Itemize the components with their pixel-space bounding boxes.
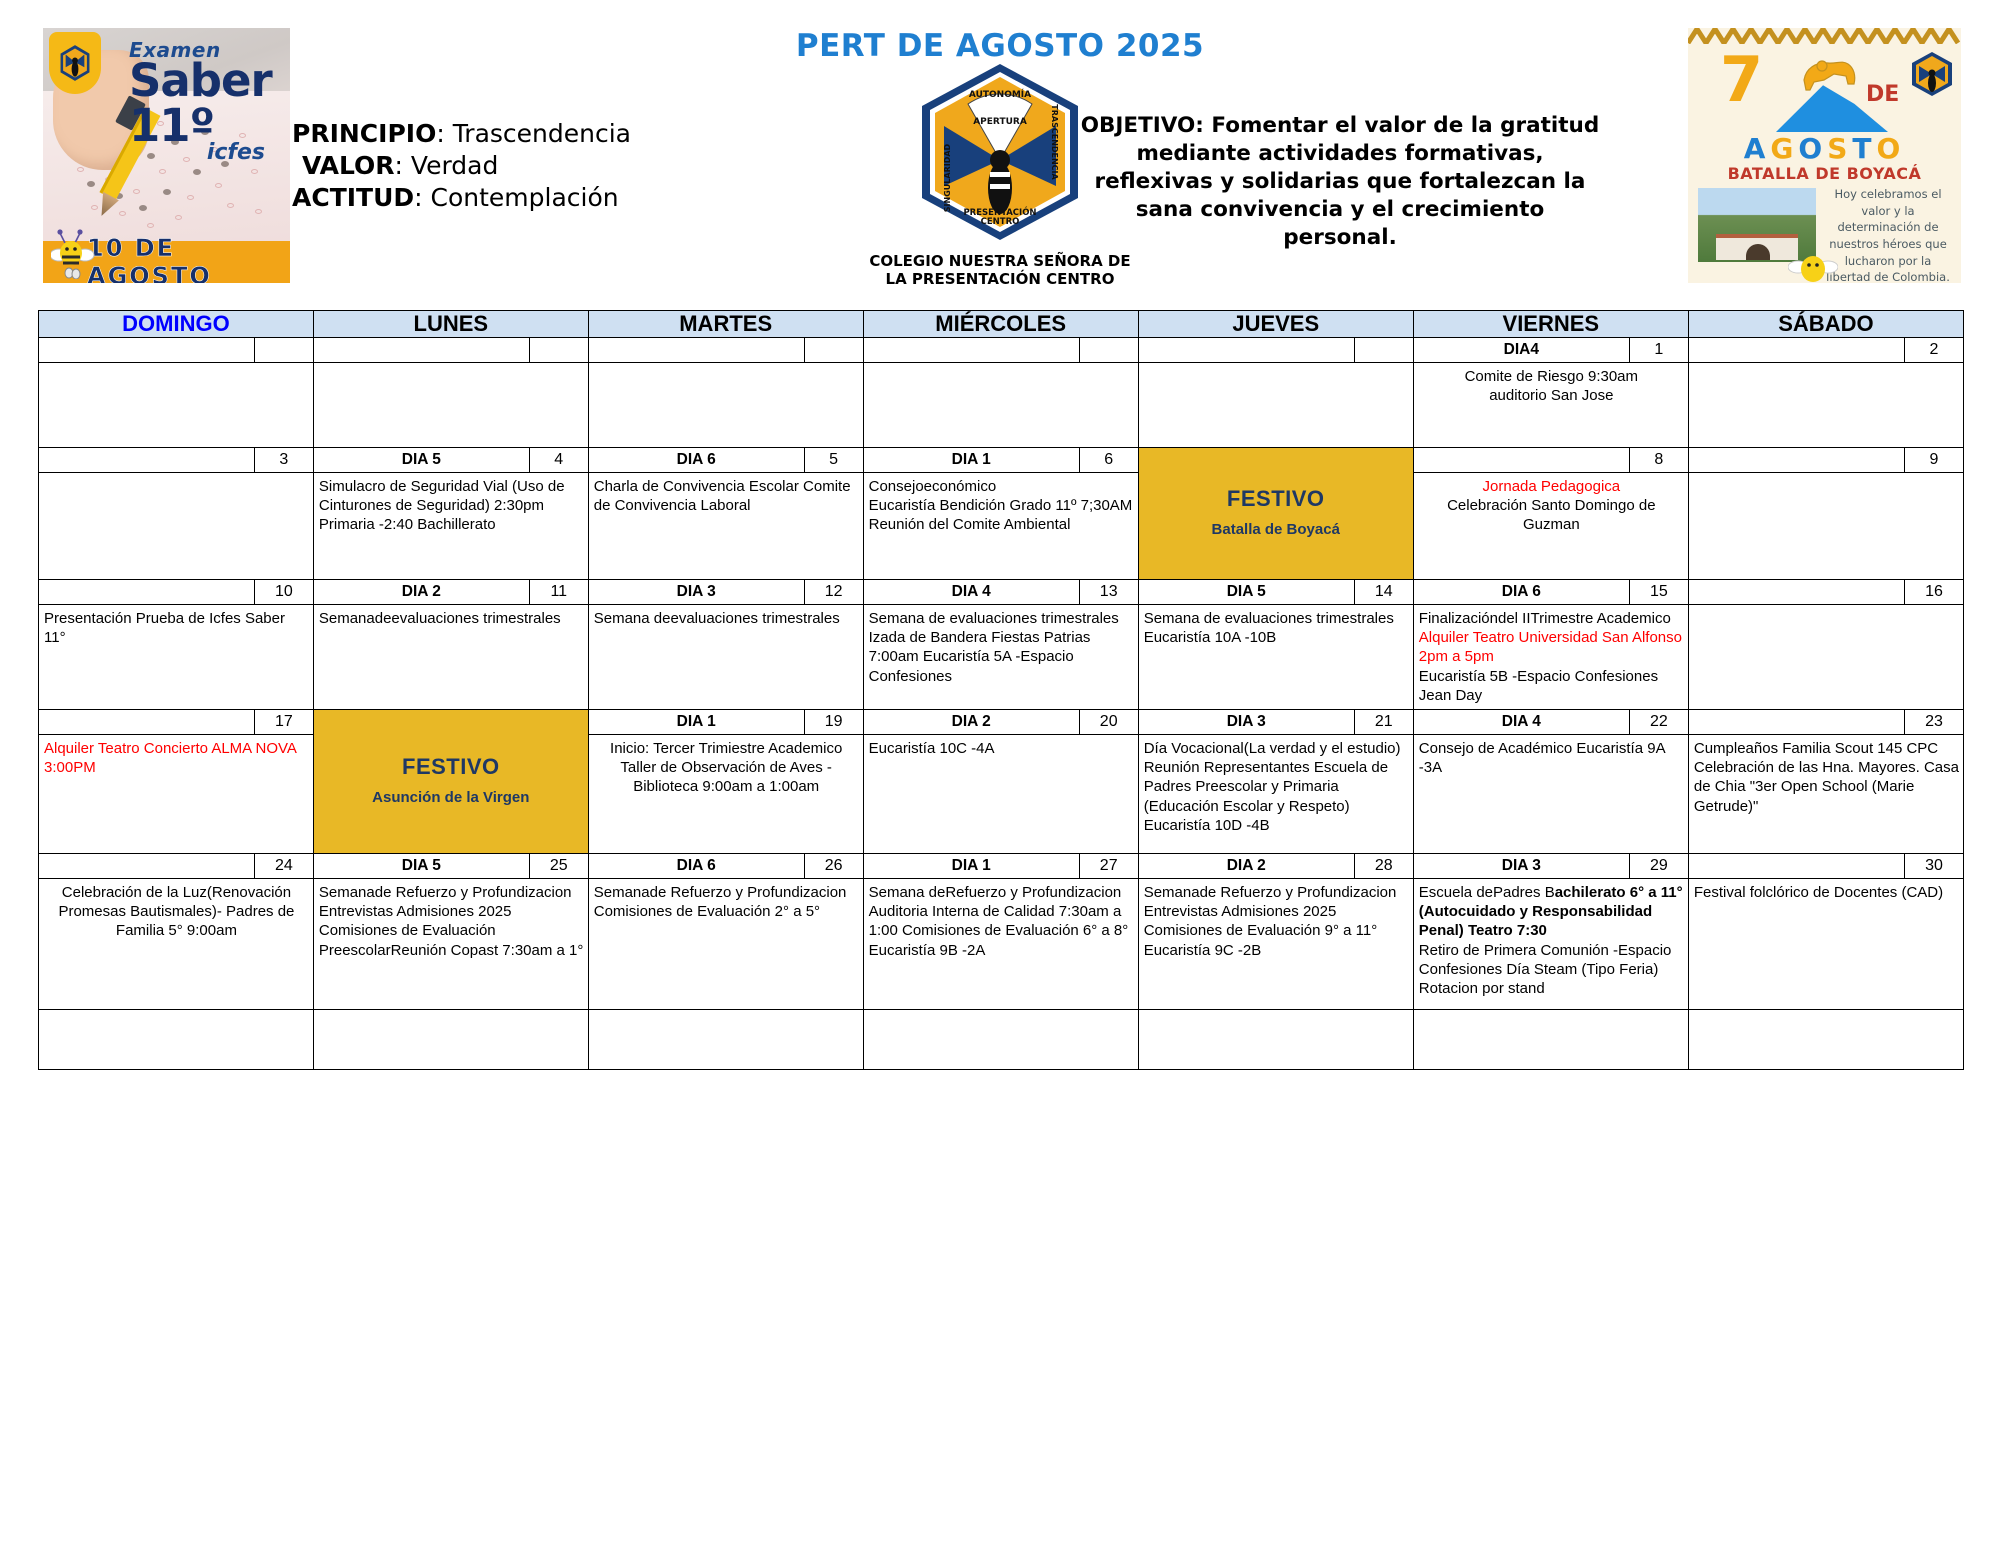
day-cell-header: 23 [1689,710,1963,735]
calendar-day-cell[interactable]: 17Alquiler Teatro Concierto ALMA NOVA 3:… [39,710,314,854]
principles-block: PRINCIPIO: Trascendencia VALOR: Verdad A… [292,118,622,214]
day-events: Semana deRefuerzo y Profundizacion Audit… [864,879,1138,1009]
calendar-day-cell[interactable]: DIA 413Semana de evaluaciones trimestral… [863,580,1138,710]
day-cell-header: DIA 127 [864,854,1138,879]
calendar-table: DOMINGO LUNES MARTES MIÉRCOLES JUEVES VI… [38,310,1964,1070]
day-cell-inner: 16 [1689,580,1963,709]
day-cell-inner: 8Jornada PedagogicaCelebración Santo Dom… [1414,448,1688,579]
calendar-tail-cell [588,1010,863,1070]
day-event-line: Inicio: Tercer Trimiestre Academico Tall… [594,739,859,797]
day-event-line: Consejo de Académico Eucaristía 9A -3A [1419,739,1684,777]
day-number: 10 [255,580,313,604]
day-number: 29 [1630,854,1688,878]
day-events [1689,605,1963,709]
logo-text-singularidad: SINGULARIDAD [943,143,952,212]
day-event-segment: Escuela dePadres B [1419,884,1555,901]
calendar-day-cell[interactable]: DIA 626Semanade Refuerzo y Profundizacio… [588,854,863,1010]
day-number: 20 [1080,710,1138,734]
day-cell-inner [589,338,863,447]
calendar-day-cell[interactable]: 2 [1688,338,1963,448]
day-cell-inner: 2 [1689,338,1963,447]
day-cell-inner: 30Festival folclórico de Docentes (CAD) [1689,854,1963,1009]
objective-text: OBJETIVO: Fomentar el valor de la gratit… [1080,112,1600,252]
day-events: Semanade Refuerzo y Profundizacion Comis… [589,879,863,1009]
bee-mascot-icon-right [1788,245,1838,283]
logo-text-trascendencia: TRASCENDENCIA [1050,104,1059,180]
calendar-day-cell[interactable]: DIA 16ConsejoeconómicoEucaristía Bendici… [863,448,1138,580]
actitud-label: ACTITUD [292,183,414,212]
actitud-value: : Contemplación [414,183,618,212]
festive-title: FESTIVO [1139,486,1413,512]
day-number: 28 [1355,854,1413,878]
day-events: Presentación Prueba de Icfes Saber 11° [39,605,313,709]
day-events: ConsejoeconómicoEucaristía Bendición Gra… [864,473,1138,579]
day-number: 3 [255,448,313,472]
principio-row: PRINCIPIO: Trascendencia [292,118,622,150]
day-cell-header: DIA 514 [1139,580,1413,605]
day-cell-inner: 24Celebración de la Luz(Renovación Prome… [39,854,313,1009]
day-cycle-label: DIA 2 [864,710,1080,734]
day-event-line: Presentación Prueba de Icfes Saber 11° [44,609,309,647]
calendar-tail-row [39,1010,1964,1070]
calendar-day-cell[interactable]: DIA 329Escuela dePadres Bachilerato 6° a… [1413,854,1688,1010]
day-event-line: Semanade Refuerzo y Profundizacion Comis… [594,883,859,921]
day-cell-header: DIA 211 [314,580,588,605]
day-cycle-label [1689,448,1905,472]
hexagon-bee-logo: AUTONOMÍA APERTURA SINGULARIDAD TRASCEND… [910,60,1090,245]
day-number [1080,338,1138,362]
calendar-day-cell[interactable]: DIA 228Semanade Refuerzo y Profundizacio… [1138,854,1413,1010]
day-cell-header: DIA41 [1414,338,1688,363]
calendar-week-row: 17Alquiler Teatro Concierto ALMA NOVA 3:… [39,710,1964,854]
day-cell-header: 3 [39,448,313,473]
day-cell-inner: DIA 312Semana deevaluaciones trimestrale… [589,580,863,709]
day-number: 23 [1905,710,1963,734]
day-cell-inner: DIA 16ConsejoeconómicoEucaristía Bendici… [864,448,1138,579]
day-cell-inner: DIA 329Escuela dePadres Bachilerato 6° a… [1414,854,1688,1009]
day-events: Simulacro de Seguridad Vial (Uso de Cint… [314,473,588,579]
day-event-line: Festival folclórico de Docentes (CAD) [1694,883,1959,902]
batalla-boyaca-poster: 7 DE AGOSTO BATALLA DE BOYACÁ Hoy celebr… [1688,28,1961,283]
valor-value: : Verdad [395,151,499,180]
day-cell-header [864,338,1138,363]
day-cycle-label [589,338,805,362]
calendar-day-festive[interactable]: FESTIVOBatalla de Boyacá [1138,448,1413,580]
day-events: Semanade Refuerzo y Profundizacion Entre… [1139,879,1413,1009]
day-cell-header: 17 [39,710,313,735]
festive-title: FESTIVO [314,754,588,780]
day-number: 11 [530,580,588,604]
day-cell-header [39,338,313,363]
day-number: 5 [805,448,863,472]
day-header-miercoles: MIÉRCOLES [863,311,1138,338]
day-events [314,363,588,447]
day-cycle-label [314,338,530,362]
day-cell-inner: 23 Cumpleaños Familia Scout 145 CPC Cele… [1689,710,1963,853]
day-cell-header: DIA 65 [589,448,863,473]
day-event-line: Día Vocacional(La verdad y el estudio) R… [1144,739,1409,835]
day-events: Comite de Riesgo 9:30amauditorio San Jos… [1414,363,1688,447]
calendar-body: DIA41Comite de Riesgo 9:30amauditorio Sa… [39,338,1964,1070]
logo-caption: COLEGIO NUESTRA SEÑORA DE LA PRESENTACIÓ… [820,252,1180,288]
day-event-line: Celebración Santo Domingo de Guzman [1419,496,1684,534]
logo-text-apertura: APERTURA [973,117,1027,127]
calendar-day-festive[interactable]: FESTIVOAsunción de la Virgen [313,710,588,854]
calendar-day-cell[interactable]: DIA 312Semana deevaluaciones trimestrale… [588,580,863,710]
day-event-line: Alquiler Teatro Universidad San Alfonso … [1419,628,1684,666]
day-events: Consejo de Académico Eucaristía 9A -3A [1414,735,1688,853]
day-events [589,363,863,447]
day-events: Alquiler Teatro Concierto ALMA NOVA 3:00… [39,735,313,853]
day-cell-inner: DIA 514Semana de evaluaciones trimestral… [1139,580,1413,709]
day-event-line: Cumpleaños Familia Scout 145 CPC Celebra… [1694,739,1959,816]
day-cell-inner [39,338,313,447]
day-event-line: Semanadeevaluaciones trimestrales [319,609,584,628]
horse-rider-icon [1800,54,1862,94]
calendar-week-row: 10Presentación Prueba de Icfes Saber 11°… [39,580,1964,710]
day-cell-inner: DIA 65Charla de Convivencia Escolar Comi… [589,448,863,579]
logo-text-autonomia: AUTONOMÍA [969,88,1031,100]
day-cycle-label: DIA 5 [1139,580,1355,604]
page-header: PERT DE AGOSTO 2025 [0,0,2000,300]
day-cell-inner: DIA 422Consejo de Académico Eucaristía 9… [1414,710,1688,853]
day-cycle-label [1139,338,1355,362]
poster-de-label: DE [1866,82,1899,107]
poster-batalla-label: BATALLA DE BOYACÁ [1688,164,1961,183]
day-event-line: Semanade Refuerzo y Profundizacion Entre… [319,883,584,960]
calendar-day-cell[interactable]: 8Jornada PedagogicaCelebración Santo Dom… [1413,448,1688,580]
calendar-day-cell[interactable]: DIA 211Semanadeevaluaciones trimestrales [313,580,588,710]
calendar-day-cell[interactable]: DIA 615Finalizacióndel IITrimestre Acade… [1413,580,1688,710]
day-event-line: Eucaristía Bendición Grado 11º 7;30AM Re… [869,496,1134,534]
day-event-line: Semana deevaluaciones trimestrales [594,609,859,628]
zigzag-pattern-icon [1688,28,1961,44]
day-event-line: Eucaristía 5B -Espacio Confesiones Jean … [1419,667,1684,705]
day-cell-inner [314,338,588,447]
calendar-day-cell[interactable]: 30Festival folclórico de Docentes (CAD) [1688,854,1963,1010]
day-number: 17 [255,710,313,734]
day-cell-inner: 3 [39,448,313,579]
calendar-day-cell[interactable]: DIA 127Semana deRefuerzo y Profundizacio… [863,854,1138,1010]
day-number: 27 [1080,854,1138,878]
calendar-week-row: 24Celebración de la Luz(Renovación Prome… [39,854,1964,1010]
day-events: Semanade Refuerzo y Profundizacion Entre… [314,879,588,1009]
calendar: DOMINGO LUNES MARTES MIÉRCOLES JUEVES VI… [38,310,1964,1070]
day-header-lunes: LUNES [313,311,588,338]
day-event-line: Semana de evaluaciones trimestrales Izad… [869,609,1134,686]
day-event-line: Jornada Pedagogica [1419,477,1684,496]
day-number: 9 [1905,448,1963,472]
day-event-line: Semana de evaluaciones trimestrales Euca… [1144,609,1409,647]
school-badge-small [49,32,101,94]
day-events [1689,363,1963,447]
day-cycle-label [39,448,255,472]
day-events: Semana de evaluaciones trimestrales Euca… [1139,605,1413,709]
day-cell-header: DIA 228 [1139,854,1413,879]
day-event-line: Simulacro de Seguridad Vial (Uso de Cint… [319,477,584,535]
day-events [39,363,313,447]
day-number: 14 [1355,580,1413,604]
day-cycle-label [39,854,255,878]
calendar-day-cell[interactable] [313,338,588,448]
day-cell-header: DIA 312 [589,580,863,605]
calendar-day-cell[interactable] [1138,338,1413,448]
day-cell-inner: DIA41Comite de Riesgo 9:30amauditorio Sa… [1414,338,1688,447]
decorative-border-top [1688,28,1961,44]
day-cell-inner: 9 [1689,448,1963,579]
calendar-day-cell[interactable]: DIA 321Día Vocacional(La verdad y el est… [1138,710,1413,854]
principio-label: PRINCIPIO [292,119,436,148]
day-cycle-label: DIA 6 [1414,580,1630,604]
day-cell-inner: DIA 127Semana deRefuerzo y Profundizacio… [864,854,1138,1009]
calendar-header-row: DOMINGO LUNES MARTES MIÉRCOLES JUEVES VI… [39,311,1964,338]
poster-saber-label: Saber 11º [129,58,289,148]
day-events: Semana de evaluaciones trimestrales Izad… [864,605,1138,709]
day-cycle-label: DIA 4 [864,580,1080,604]
day-number: 21 [1355,710,1413,734]
day-events: Jornada PedagogicaCelebración Santo Domi… [1414,473,1688,579]
day-number: 16 [1905,580,1963,604]
day-cycle-label [1689,580,1905,604]
day-cycle-label [1689,710,1905,734]
calendar-day-cell[interactable]: DIA 65Charla de Convivencia Escolar Comi… [588,448,863,580]
day-cell-inner: DIA 321Día Vocacional(La verdad y el est… [1139,710,1413,853]
calendar-tail-cell [39,1010,314,1070]
calendar-day-cell[interactable] [588,338,863,448]
calendar-tail-cell [1138,1010,1413,1070]
festive-subtitle: Asunción de la Virgen [314,786,588,810]
day-number: 1 [1630,338,1688,362]
day-events: Día Vocacional(La verdad y el estudio) R… [1139,735,1413,853]
day-cell-header: DIA 329 [1414,854,1688,879]
day-events: Celebración de la Luz(Renovación Promesa… [39,879,313,1009]
day-cell-header: 30 [1689,854,1963,879]
day-number: 6 [1080,448,1138,472]
day-cell-header: 24 [39,854,313,879]
day-cell-inner: DIA 626Semanade Refuerzo y Profundizacio… [589,854,863,1009]
calendar-day-cell[interactable]: DIA 54Simulacro de Seguridad Vial (Uso d… [313,448,588,580]
day-cycle-label [1414,448,1630,472]
poster-seven-label: 7 [1720,52,1763,108]
logo-caption-line1: COLEGIO NUESTRA SEÑORA DE [820,252,1180,270]
day-number: 13 [1080,580,1138,604]
day-cycle-label: DIA 1 [864,448,1080,472]
day-cycle-label: DIA 3 [1414,854,1630,878]
day-event-line: Semanade Refuerzo y Profundizacion Entre… [1144,883,1409,960]
day-cell-header: DIA 422 [1414,710,1688,735]
day-cell-inner [864,338,1138,447]
day-header-jueves: JUEVES [1138,311,1413,338]
day-events: Charla de Convivencia Escolar Comite de … [589,473,863,579]
day-cell-inner: DIA 615Finalizacióndel IITrimestre Acade… [1414,580,1688,709]
calendar-tail-cell [863,1010,1138,1070]
day-event-line: Finalizacióndel IITrimestre Academico [1419,609,1684,628]
day-cell-header: 2 [1689,338,1963,363]
day-events: Cumpleaños Familia Scout 145 CPC Celebra… [1689,735,1963,853]
calendar-day-cell[interactable] [39,338,314,448]
day-events: Semanadeevaluaciones trimestrales [314,605,588,709]
logo-text-centro: CENTRO [981,217,1020,227]
day-event-line: Semana deRefuerzo y Profundizacion Audit… [869,883,1134,960]
day-event-line: Comite de Riesgo 9:30am [1419,367,1684,386]
bridge-shape [1716,234,1798,260]
day-cell-header: 9 [1689,448,1963,473]
day-cell-inner: DIA 119Inicio: Tercer Trimiestre Academi… [589,710,863,853]
day-cycle-label: DIA 3 [1139,710,1355,734]
day-events: Eucaristía 10C -4A [864,735,1138,853]
calendar-week-row: 3DIA 54Simulacro de Seguridad Vial (Uso … [39,448,1964,580]
day-cell-header: DIA 615 [1414,580,1688,605]
day-cycle-label [39,580,255,604]
saber11-poster: Examen Saber 11º icfes 10 DE AGOSTO [43,28,290,283]
day-cycle-label: DIA 2 [314,580,530,604]
day-number [255,338,313,362]
day-events: Festival folclórico de Docentes (CAD) [1689,879,1963,1009]
day-events [864,363,1138,447]
day-cycle-label: DIA 1 [589,710,805,734]
calendar-day-cell[interactable]: DIA41Comite de Riesgo 9:30amauditorio Sa… [1413,338,1688,448]
day-events: Finalizacióndel IITrimestre AcademicoAlq… [1414,605,1688,709]
day-event-line: auditorio San Jose [1419,386,1684,405]
day-cell-header: DIA 525 [314,854,588,879]
day-cell-header: DIA 220 [864,710,1138,735]
day-number [805,338,863,362]
day-cell-header [589,338,863,363]
calendar-day-cell[interactable]: 24Celebración de la Luz(Renovación Prome… [39,854,314,1010]
day-cell-header: DIA 321 [1139,710,1413,735]
day-cycle-label: DIA 1 [864,854,1080,878]
calendar-day-cell[interactable]: 9 [1688,448,1963,580]
day-cell-inner: 17Alquiler Teatro Concierto ALMA NOVA 3:… [39,710,313,853]
day-cycle-label [864,338,1080,362]
day-cell-inner: DIA 220Eucaristía 10C -4A [864,710,1138,853]
day-cell-header: 8 [1414,448,1688,473]
day-number: 26 [805,854,863,878]
day-event-line: Celebración de la Luz(Renovación Promesa… [44,883,309,941]
day-cycle-label: DIA 6 [589,854,805,878]
day-event-line: Consejoeconómico [869,477,1134,496]
day-number: 25 [530,854,588,878]
day-number: 19 [805,710,863,734]
day-cycle-label [1689,338,1905,362]
day-cell-inner [1139,338,1413,447]
calendar-day-cell[interactable] [863,338,1138,448]
festive-subtitle: Batalla de Boyacá [1139,518,1413,542]
calendar-day-cell[interactable]: DIA 119Inicio: Tercer Trimiestre Academi… [588,710,863,854]
day-cell-header: DIA 119 [589,710,863,735]
day-number: 8 [1630,448,1688,472]
calendar-day-cell[interactable]: 3 [39,448,314,580]
day-header-sabado: SÁBADO [1688,311,1963,338]
day-number: 30 [1905,854,1963,878]
day-events [1689,473,1963,579]
calendar-day-cell[interactable]: DIA 220Eucaristía 10C -4A [863,710,1138,854]
day-number: 4 [530,448,588,472]
day-event-line: Escuela dePadres Bachilerato 6° a 11° (A… [1419,883,1684,941]
day-number: 22 [1630,710,1688,734]
day-number [1355,338,1413,362]
day-number: 24 [255,854,313,878]
day-cycle-label: DIA 6 [589,448,805,472]
poster-agosto-label: AGOSTO [1688,132,1961,165]
calendar-week-row: DIA41Comite de Riesgo 9:30amauditorio Sa… [39,338,1964,448]
day-cell-header: 16 [1689,580,1963,605]
day-events: Semana deevaluaciones trimestrales [589,605,863,709]
actitud-row: ACTITUD: Contemplación [292,182,622,214]
day-cycle-label: DIA 5 [314,854,530,878]
valor-label: VALOR [302,151,395,180]
day-events [1139,363,1413,447]
day-cycle-label [1689,854,1905,878]
day-cell-header: DIA 16 [864,448,1138,473]
poster-description-text: Hoy celebramos el valor y la determinaci… [1822,186,1954,283]
day-cell-inner: 10Presentación Prueba de Icfes Saber 11° [39,580,313,709]
day-cell-header: DIA 54 [314,448,588,473]
day-event-line: Eucaristía 10C -4A [869,739,1134,758]
day-cycle-label: DIA 5 [314,448,530,472]
calendar-day-cell[interactable]: DIA 514Semana de evaluaciones trimestral… [1138,580,1413,710]
day-event-line: Retiro de Primera Comunión -Espacio Conf… [1419,941,1684,999]
day-number [530,338,588,362]
calendar-day-cell[interactable]: DIA 525Semanade Refuerzo y Profundizacio… [313,854,588,1010]
day-events [39,473,313,579]
day-cycle-label: DIA 2 [1139,854,1355,878]
day-cycle-label: DIA4 [1414,338,1630,362]
day-number: 12 [805,580,863,604]
day-cycle-label: DIA 3 [589,580,805,604]
day-cell-header: DIA 413 [864,580,1138,605]
day-events: Inicio: Tercer Trimiestre Academico Tall… [589,735,863,853]
day-cell-header [1139,338,1413,363]
calendar-tail-cell [1688,1010,1963,1070]
hexagon-bee-logo-mini [58,43,92,83]
valor-row: VALOR: Verdad [292,150,622,182]
day-cell-inner: DIA 211Semanadeevaluaciones trimestrales [314,580,588,709]
day-cell-header: DIA 626 [589,854,863,879]
principio-value: : Trascendencia [436,119,631,148]
calendar-day-cell[interactable]: 16 [1688,580,1963,710]
bee-mascot-icon [51,229,95,279]
day-number: 2 [1905,338,1963,362]
day-cell-header [314,338,588,363]
day-cycle-label [39,338,255,362]
day-cycle-label [39,710,255,734]
calendar-day-cell[interactable]: DIA 422Consejo de Académico Eucaristía 9… [1413,710,1688,854]
day-header-martes: MARTES [588,311,863,338]
poster-title-group: Examen Saber 11º icfes [129,40,289,164]
day-event-line: Charla de Convivencia Escolar Comite de … [594,477,859,515]
day-number: 15 [1630,580,1688,604]
day-header-domingo: DOMINGO [39,311,314,338]
day-cell-inner: DIA 54Simulacro de Seguridad Vial (Uso d… [314,448,588,579]
calendar-day-cell[interactable]: 10Presentación Prueba de Icfes Saber 11° [39,580,314,710]
day-event-line: Alquiler Teatro Concierto ALMA NOVA 3:00… [44,739,309,777]
day-cell-header: 10 [39,580,313,605]
day-cell-inner: DIA 228Semanade Refuerzo y Profundizacio… [1139,854,1413,1009]
day-cell-inner: DIA 413Semana de evaluaciones trimestral… [864,580,1138,709]
hexagon-bee-logo-corner [1909,50,1955,98]
day-cycle-label: DIA 4 [1414,710,1630,734]
calendar-tail-cell [313,1010,588,1070]
logo-caption-line2: LA PRESENTACIÓN CENTRO [820,270,1180,288]
day-cell-inner: DIA 525Semanade Refuerzo y Profundizacio… [314,854,588,1009]
calendar-tail-cell [1413,1010,1688,1070]
calendar-day-cell[interactable]: 23 Cumpleaños Familia Scout 145 CPC Cele… [1688,710,1963,854]
day-header-viernes: VIERNES [1413,311,1688,338]
day-events: Escuela dePadres Bachilerato 6° a 11° (A… [1414,879,1688,1009]
